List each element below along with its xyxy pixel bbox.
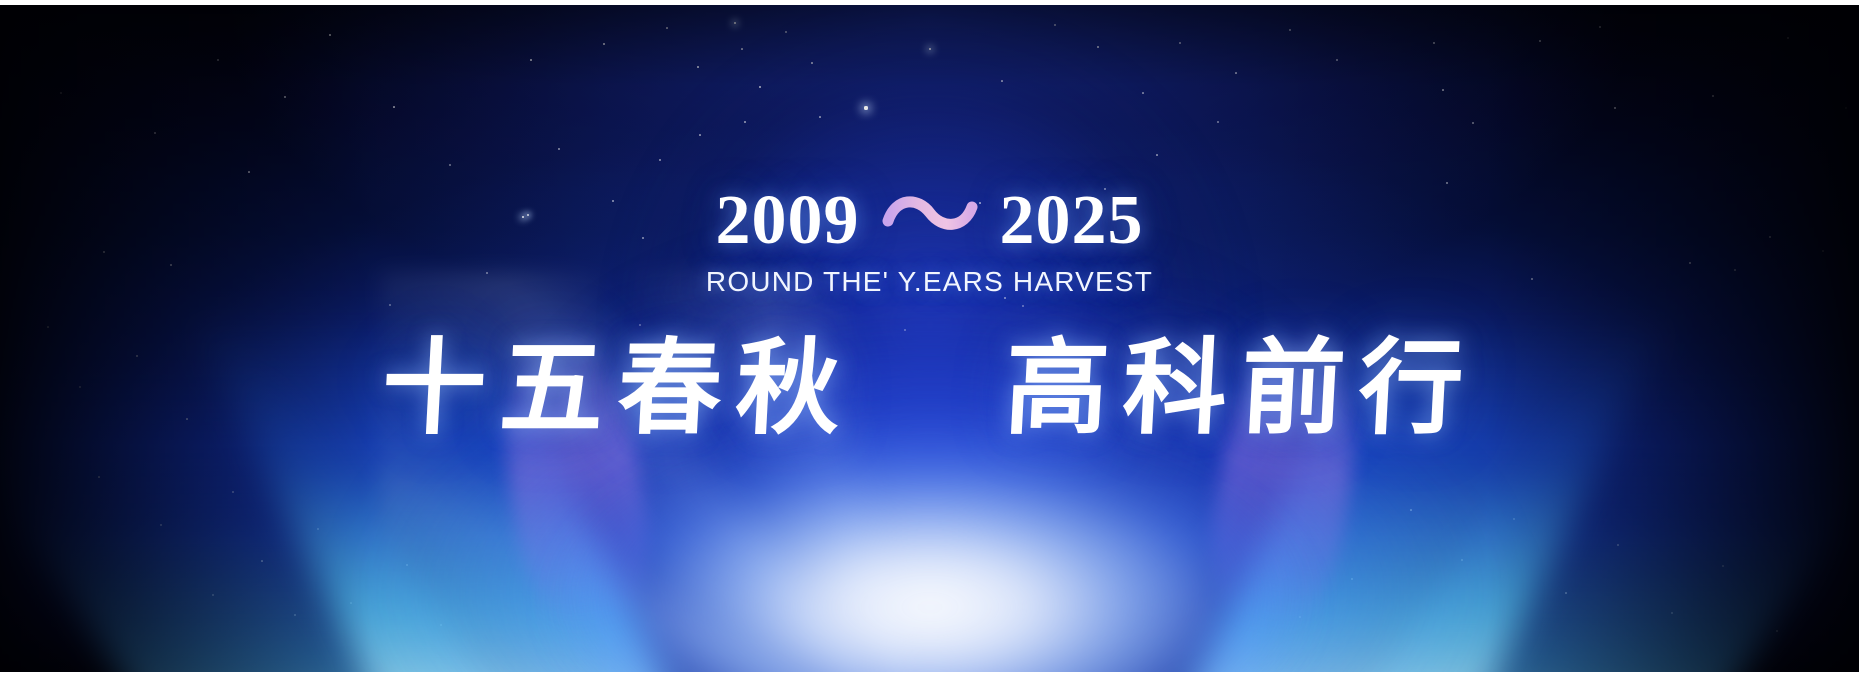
headline-left-phrase: 十五春秋 [379, 330, 857, 446]
banner-headline: 十五春秋 高科前行 [0, 330, 1859, 446]
start-year: 2009 [716, 186, 860, 256]
page-strip-bottom [0, 672, 1859, 680]
anniversary-banner: 2009 2025 ROUND THE' Y.EARS HAR [0, 0, 1859, 680]
end-year: 2025 [1000, 186, 1144, 256]
banner-content: 2009 2025 ROUND THE' Y.EARS HAR [0, 0, 1859, 680]
tilde-separator-icon [884, 187, 976, 243]
banner-subtitle: ROUND THE' Y.EARS HARVEST [0, 266, 1859, 298]
anniversary-year-range: 2009 2025 [0, 186, 1859, 256]
headline-right-phrase: 高科前行 [1001, 330, 1479, 446]
page-strip-top [0, 0, 1859, 5]
